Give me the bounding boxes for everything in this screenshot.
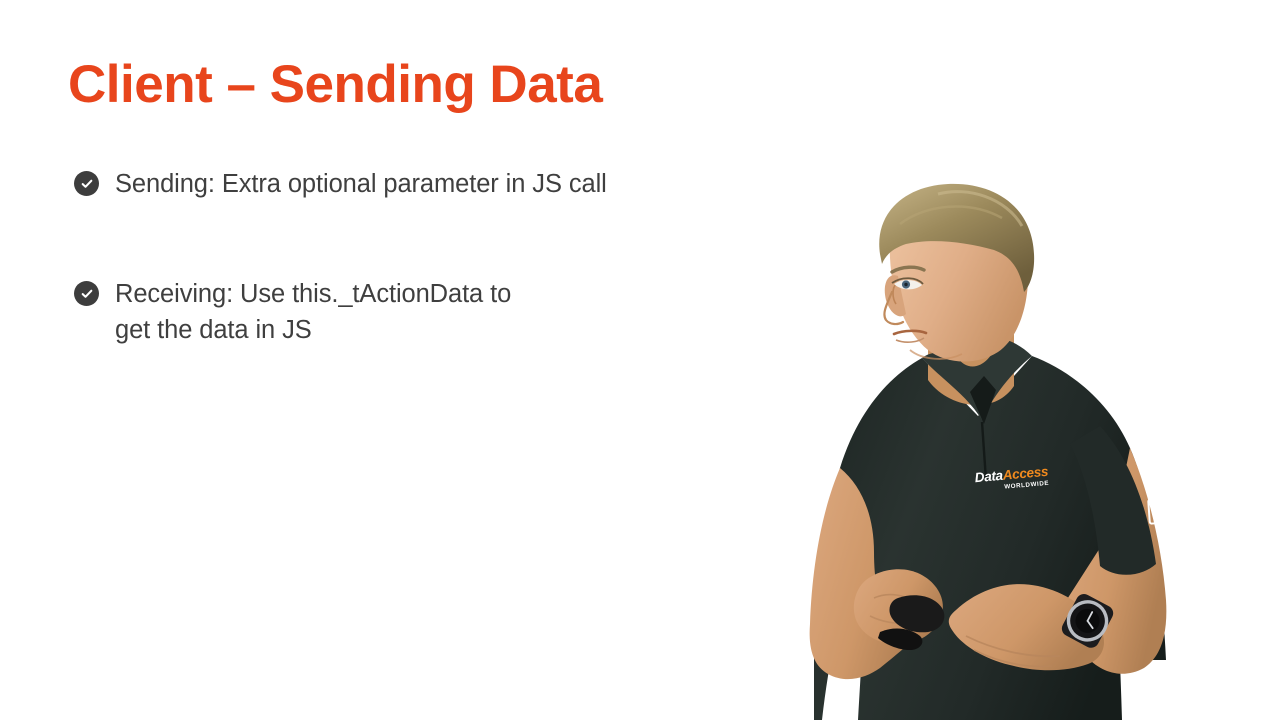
list-item-line: Receiving: Use this._tActionData to (115, 276, 511, 312)
list-item-line: Sending: Extra optional parameter in JS … (115, 166, 607, 202)
list-item-line: get the data in JS (115, 312, 511, 348)
list-item: Sending: Extra optional parameter in JS … (74, 166, 764, 202)
list-item: Receiving: Use this._tActionData to get … (74, 276, 764, 348)
presenter-photo: DataAccess WORLDWIDE (770, 180, 1210, 720)
list-item-text: Sending: Extra optional parameter in JS … (115, 166, 607, 202)
page-title: Client – Sending Data (68, 56, 602, 114)
bullet-list: Sending: Extra optional parameter in JS … (74, 166, 764, 348)
presentation-slide: Client – Sending Data Sending: Extra opt… (0, 0, 1280, 720)
check-circle-icon (74, 281, 99, 306)
list-item-text: Receiving: Use this._tActionData to get … (115, 276, 511, 348)
sleeve-logo-badge-icon (1147, 497, 1172, 525)
check-circle-icon (74, 171, 99, 196)
